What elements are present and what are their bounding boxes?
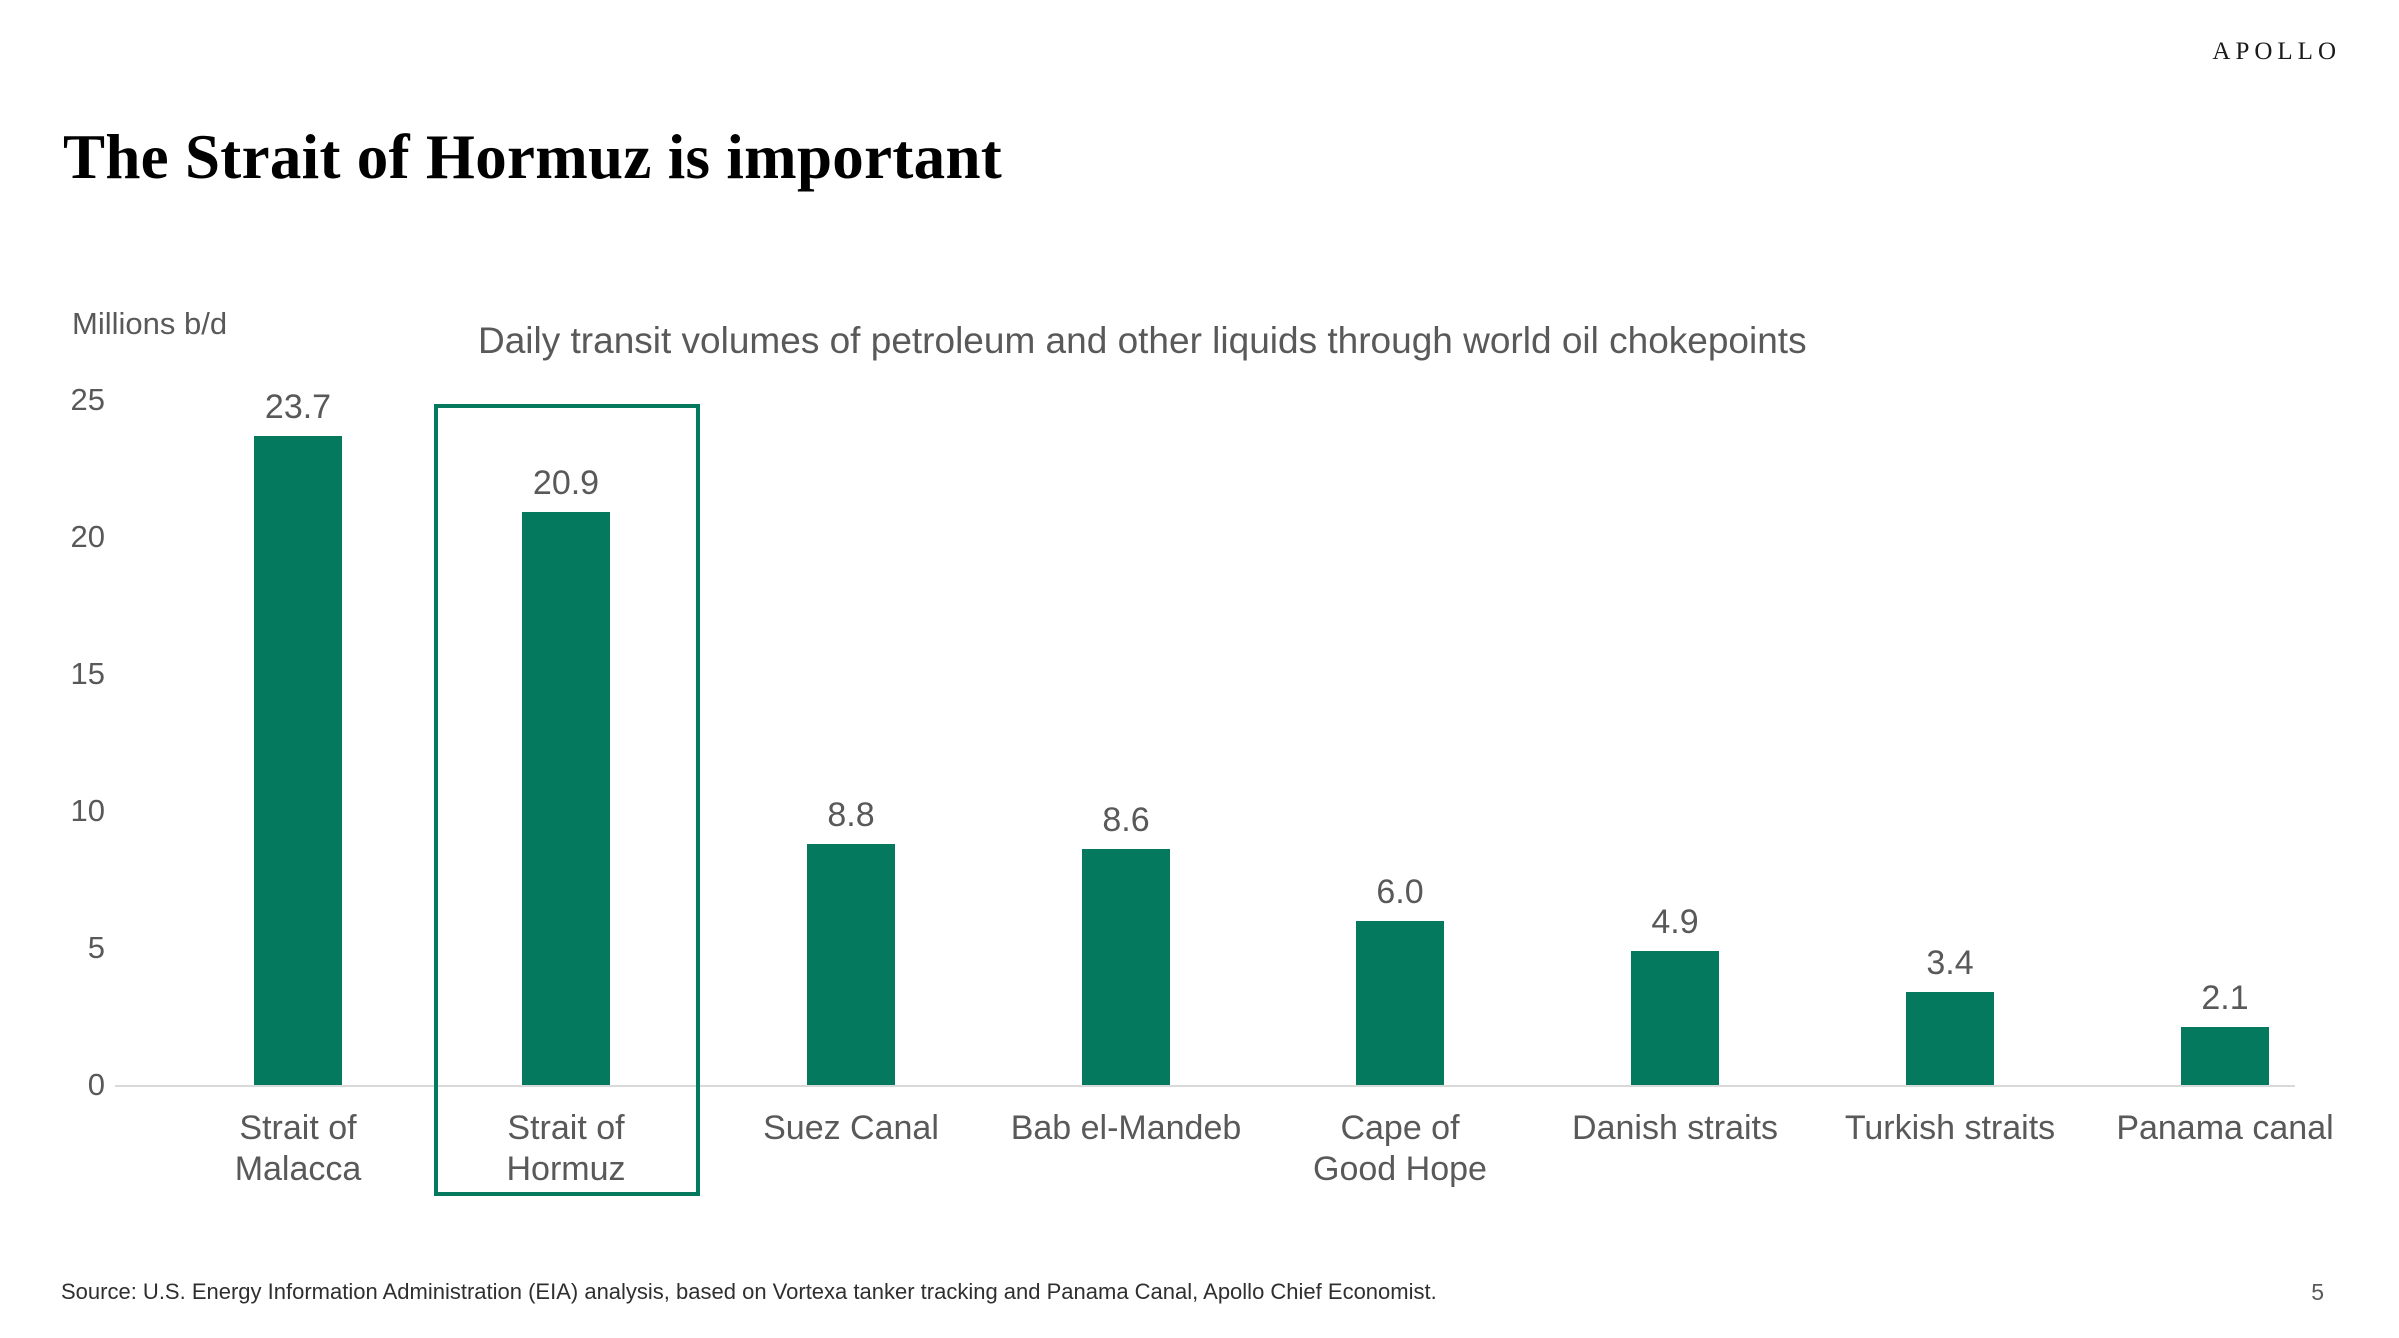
- page-number: 5: [2311, 1279, 2324, 1306]
- y-tick-25: 25: [15, 382, 105, 418]
- source-note: Source: U.S. Energy Information Administ…: [61, 1279, 1437, 1305]
- bar-bab-el-mandeb[interactable]: [1082, 849, 1170, 1085]
- chart-container: Millions b/d Daily transit volumes of pe…: [0, 0, 2399, 1338]
- bar-value-panama-canal: 2.1: [2201, 979, 2248, 1018]
- bar-value-danish-straits: 4.9: [1651, 903, 1698, 942]
- y-tick-10: 10: [15, 793, 105, 829]
- bar-value-cape-of-good-hope: 6.0: [1376, 873, 1423, 912]
- bar-cape-of-good-hope[interactable]: [1356, 921, 1444, 1085]
- x-label-panama-canal: Panama canal: [2105, 1108, 2345, 1149]
- x-label-strait-of-malacca: Strait of Malacca: [178, 1108, 418, 1191]
- bar-danish-straits[interactable]: [1631, 951, 1719, 1085]
- x-label-danish-straits: Danish straits: [1555, 1108, 1795, 1149]
- x-label-strait-of-hormuz: Strait of Hormuz: [446, 1108, 686, 1191]
- bar-strait-of-malacca[interactable]: [254, 436, 342, 1085]
- bar-value-suez-canal: 8.8: [827, 796, 874, 835]
- y-tick-15: 15: [15, 656, 105, 692]
- bar-suez-canal[interactable]: [807, 844, 895, 1085]
- bar-turkish-straits[interactable]: [1906, 992, 1994, 1085]
- x-axis-baseline: [115, 1085, 2295, 1087]
- y-tick-20: 20: [15, 519, 105, 555]
- x-label-suez-canal: Suez Canal: [731, 1108, 971, 1149]
- bar-panama-canal[interactable]: [2181, 1027, 2269, 1085]
- plot-area: 25 20 15 10 5 0 23.7 20.9 8.8 8.6 6.0 4.…: [0, 0, 2399, 1338]
- bar-value-bab-el-mandeb: 8.6: [1102, 801, 1149, 840]
- bar-value-strait-of-hormuz: 20.9: [533, 464, 599, 503]
- y-tick-5: 5: [15, 930, 105, 966]
- bar-strait-of-hormuz[interactable]: [522, 512, 610, 1085]
- x-label-bab-el-mandeb: Bab el-Mandeb: [1006, 1108, 1246, 1149]
- x-label-cape-of-good-hope: Cape of Good Hope: [1295, 1108, 1505, 1191]
- bar-value-strait-of-malacca: 23.7: [265, 388, 331, 427]
- x-label-turkish-straits: Turkish straits: [1830, 1108, 2070, 1149]
- bar-value-turkish-straits: 3.4: [1926, 944, 1973, 983]
- slide-canvas: APOLLO The Strait of Hormuz is important…: [0, 0, 2399, 1338]
- y-tick-0: 0: [15, 1067, 105, 1103]
